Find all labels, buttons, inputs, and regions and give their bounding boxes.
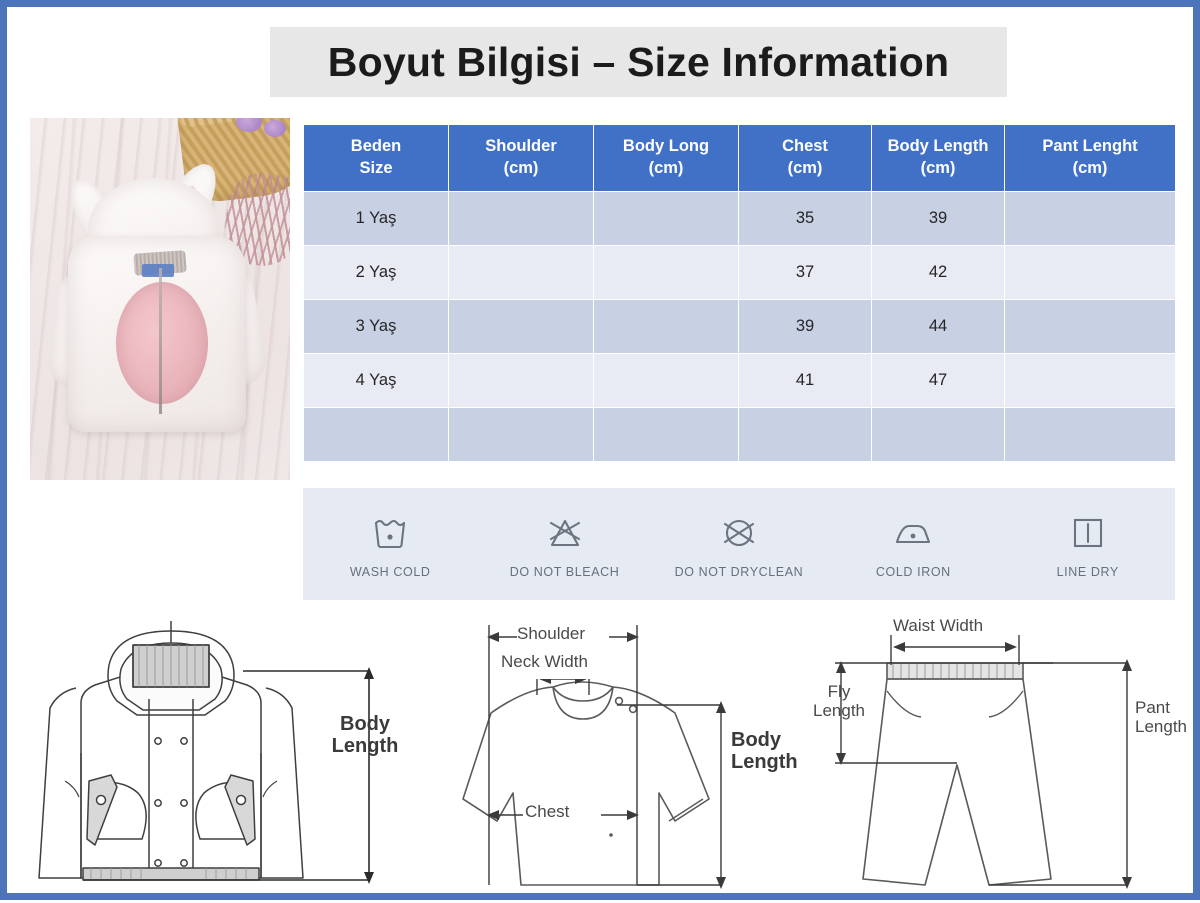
cell-body-length xyxy=(872,407,1005,461)
cell-shoulder xyxy=(449,407,594,461)
care-label: COLD IRON xyxy=(876,565,951,579)
cell-size: 3 Yaş xyxy=(304,299,449,353)
pants-pant-length-label: Pant Length xyxy=(1135,699,1195,736)
column-header-pant-length: Pant Lenght (cm) xyxy=(1005,125,1176,192)
table-row xyxy=(304,407,1176,461)
cell-size: 1 Yaş xyxy=(304,191,449,245)
pants-diagram: Waist Width Fly Length Pant Length xyxy=(791,603,1191,898)
cell-pant-length xyxy=(1005,191,1176,245)
table-row: 2 Yaş 37 42 xyxy=(304,245,1176,299)
product-photo xyxy=(30,118,290,480)
table-row: 3 Yaş 39 44 xyxy=(304,299,1176,353)
cell-shoulder xyxy=(449,191,594,245)
header-line2: (cm) xyxy=(649,159,684,177)
column-header-chest: Chest (cm) xyxy=(739,125,872,192)
header-line2: (cm) xyxy=(788,159,823,177)
jacket-zipper xyxy=(159,268,162,414)
cell-body-length: 44 xyxy=(872,299,1005,353)
wash-cold-icon xyxy=(370,510,410,556)
care-item-cold-iron: COLD IRON xyxy=(838,510,988,579)
cell-shoulder xyxy=(449,353,594,407)
hooded-jacket-diagram: Body Length xyxy=(21,603,421,898)
jacket-body-length-label: Body Length xyxy=(317,713,413,757)
table-row: 1 Yaş 35 39 xyxy=(304,191,1176,245)
care-item-wash-cold: WASH COLD xyxy=(315,510,465,579)
header-line1: Beden xyxy=(351,137,401,155)
cell-chest: 35 xyxy=(739,191,872,245)
cell-size: 2 Yaş xyxy=(304,245,449,299)
cell-chest xyxy=(739,407,872,461)
header-line2: (cm) xyxy=(1073,159,1108,177)
column-header-size: Beden Size xyxy=(304,125,449,192)
care-label: DO NOT BLEACH xyxy=(510,565,620,579)
cell-chest: 37 xyxy=(739,245,872,299)
cell-pant-length xyxy=(1005,299,1176,353)
sweater-top-diagram: Shoulder Neck Width Chest Body Length xyxy=(421,603,791,898)
pants-fly-length-label: Fly Length xyxy=(795,683,883,720)
care-label: DO NOT DRYCLEAN xyxy=(675,565,804,579)
header-line1: Chest xyxy=(782,137,828,155)
header-line1: Body Long xyxy=(623,137,709,155)
header-line1: Shoulder xyxy=(485,137,557,155)
measurement-diagrams: Body Length xyxy=(21,603,1193,898)
cell-pant-length xyxy=(1005,407,1176,461)
care-label: LINE DRY xyxy=(1057,565,1119,579)
cell-pant-length xyxy=(1005,245,1176,299)
cell-size: 4 Yaş xyxy=(304,353,449,407)
cell-body-length: 42 xyxy=(872,245,1005,299)
cell-size xyxy=(304,407,449,461)
top-chest-label: Chest xyxy=(525,803,569,822)
column-header-shoulder: Shoulder (cm) xyxy=(449,125,594,192)
care-item-line-dry: LINE DRY xyxy=(1013,510,1163,579)
page-title: Boyut Bilgisi – Size Information xyxy=(328,39,949,86)
header-line1: Body Length xyxy=(888,137,989,155)
care-label: WASH COLD xyxy=(350,565,431,579)
cell-body-long xyxy=(594,353,739,407)
top-shoulder-label: Shoulder xyxy=(517,625,585,644)
cell-body-long xyxy=(594,191,739,245)
cell-chest: 39 xyxy=(739,299,872,353)
header-line2: (cm) xyxy=(504,159,539,177)
cell-body-long xyxy=(594,245,739,299)
header-line2: Size xyxy=(359,159,392,177)
header-line1: Pant Lenght xyxy=(1042,137,1137,155)
flower xyxy=(264,120,286,137)
table-row: 4 Yaş 41 47 xyxy=(304,353,1176,407)
column-header-body-length: Body Length (cm) xyxy=(872,125,1005,192)
title-banner: Boyut Bilgisi – Size Information xyxy=(270,27,1007,97)
cell-chest: 41 xyxy=(739,353,872,407)
cell-shoulder xyxy=(449,299,594,353)
cold-iron-icon xyxy=(892,510,934,556)
pants-drawing xyxy=(791,603,1191,898)
cell-body-length: 39 xyxy=(872,191,1005,245)
size-table: Beden Size Shoulder (cm) Body Long (cm) … xyxy=(303,124,1176,462)
do-not-dryclean-icon xyxy=(719,510,759,556)
care-item-do-not-bleach: DO NOT BLEACH xyxy=(490,510,640,579)
jacket-brand-label xyxy=(142,264,174,277)
header-line2: (cm) xyxy=(921,159,956,177)
line-dry-icon xyxy=(1069,510,1107,556)
cell-shoulder xyxy=(449,245,594,299)
care-item-do-not-dryclean: DO NOT DRYCLEAN xyxy=(664,510,814,579)
table-header-row: Beden Size Shoulder (cm) Body Long (cm) … xyxy=(304,125,1176,192)
size-chart-frame: Boyut Bilgisi – Size Information Beden xyxy=(0,0,1200,900)
cell-pant-length xyxy=(1005,353,1176,407)
pants-waist-width-label: Waist Width xyxy=(893,617,983,636)
arrow-down xyxy=(364,872,374,884)
column-header-body-long: Body Long (cm) xyxy=(594,125,739,192)
top-neck-width-label: Neck Width xyxy=(501,653,588,672)
cell-body-long xyxy=(594,299,739,353)
do-not-bleach-icon xyxy=(544,510,586,556)
jacket-belly-patch xyxy=(116,282,208,404)
cell-body-long xyxy=(594,407,739,461)
arrow-up xyxy=(364,667,374,679)
cell-body-length: 47 xyxy=(872,353,1005,407)
care-instructions-band: WASH COLD DO NOT BLEACH DO NOT DRYCL xyxy=(303,488,1175,600)
